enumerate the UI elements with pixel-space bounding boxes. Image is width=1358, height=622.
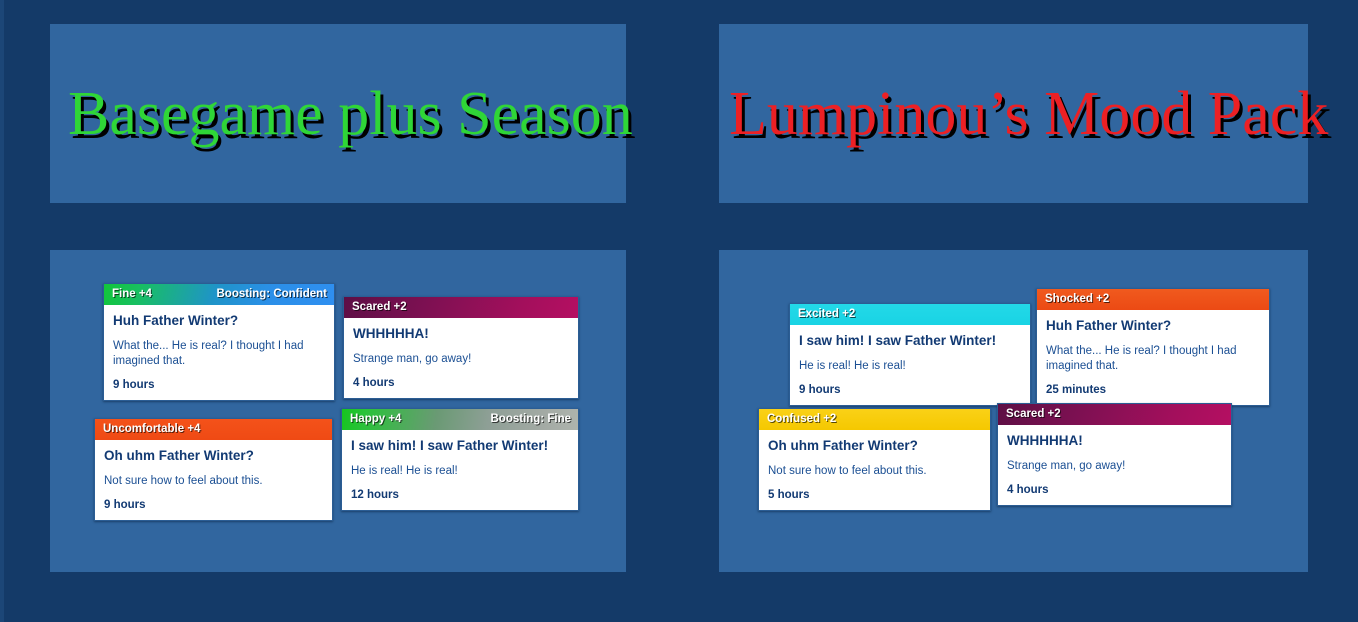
- card-time: 25 minutes: [1046, 384, 1260, 396]
- mood-label: Uncomfortable +4: [103, 422, 200, 436]
- notification-card-uncomfortable[interactable]: Uncomfortable +4 Oh uhm Father Winter? N…: [94, 418, 333, 521]
- right-comparison-title: Lumpinou’s Mood Pack: [719, 83, 1328, 145]
- card-body: WHHHHHA! Strange man, go away! 4 hours: [344, 318, 578, 398]
- card-body: I saw him! I saw Father Winter! He is re…: [790, 325, 1030, 405]
- mood-label: Shocked +2: [1045, 292, 1109, 306]
- left-comparison-title: Basegame plus Season: [50, 83, 633, 145]
- card-text: Strange man, go away!: [353, 352, 569, 367]
- card-header: Scared +2: [344, 297, 578, 318]
- card-text: He is real! He is real!: [799, 359, 1021, 374]
- card-header: Scared +2: [998, 404, 1231, 425]
- card-header: Uncomfortable +4: [95, 419, 332, 440]
- card-text: Strange man, go away!: [1007, 459, 1222, 474]
- notification-card-confused[interactable]: Confused +2 Oh uhm Father Winter? Not su…: [758, 408, 991, 511]
- card-text: What the... He is real? I thought I had …: [1046, 344, 1260, 374]
- notification-card-excited[interactable]: Excited +2 I saw him! I saw Father Winte…: [789, 303, 1031, 406]
- card-title: Oh uhm Father Winter?: [104, 448, 323, 465]
- mood-label: Scared +2: [352, 300, 407, 314]
- notification-card-scared-left[interactable]: Scared +2 WHHHHHA! Strange man, go away!…: [343, 296, 579, 399]
- card-text: He is real! He is real!: [351, 464, 569, 479]
- card-title: WHHHHHA!: [353, 326, 569, 343]
- card-text: Not sure how to feel about this.: [104, 474, 323, 489]
- card-time: 4 hours: [353, 377, 569, 389]
- mood-label: Happy +4: [350, 412, 401, 426]
- card-body: Oh uhm Father Winter? Not sure how to fe…: [759, 430, 990, 510]
- card-body: I saw him! I saw Father Winter! He is re…: [342, 430, 578, 510]
- right-title-panel: Lumpinou’s Mood Pack: [719, 24, 1308, 203]
- card-header: Excited +2: [790, 304, 1030, 325]
- notification-card-fine[interactable]: Fine +4 Boosting: Confident Huh Father W…: [103, 283, 335, 401]
- card-title: I saw him! I saw Father Winter!: [351, 438, 569, 455]
- mood-label: Confused +2: [767, 412, 836, 426]
- left-title-panel: Basegame plus Season: [50, 24, 626, 203]
- card-title: Huh Father Winter?: [113, 313, 325, 330]
- card-title: Oh uhm Father Winter?: [768, 438, 981, 455]
- card-time: 9 hours: [799, 384, 1021, 396]
- card-body: Huh Father Winter? What the... He is rea…: [104, 305, 334, 400]
- card-title: WHHHHHA!: [1007, 433, 1222, 450]
- card-header: Shocked +2: [1037, 289, 1269, 310]
- notification-card-happy[interactable]: Happy +4 Boosting: Fine I saw him! I saw…: [341, 408, 579, 511]
- card-time: 12 hours: [351, 489, 569, 501]
- card-body: WHHHHHA! Strange man, go away! 4 hours: [998, 425, 1231, 505]
- card-time: 9 hours: [113, 379, 325, 391]
- card-body: Oh uhm Father Winter? Not sure how to fe…: [95, 440, 332, 520]
- boosting-label: Boosting: Confident: [216, 287, 327, 301]
- mood-label: Scared +2: [1006, 407, 1061, 421]
- card-header: Fine +4 Boosting: Confident: [104, 284, 334, 305]
- card-title: I saw him! I saw Father Winter!: [799, 333, 1021, 350]
- mood-label: Excited +2: [798, 307, 855, 321]
- card-time: 9 hours: [104, 499, 323, 511]
- notification-card-scared-right[interactable]: Scared +2 WHHHHHA! Strange man, go away!…: [997, 403, 1232, 506]
- notification-card-shocked[interactable]: Shocked +2 Huh Father Winter? What the..…: [1036, 288, 1270, 406]
- mood-label: Fine +4: [112, 287, 152, 301]
- card-body: Huh Father Winter? What the... He is rea…: [1037, 310, 1269, 405]
- boosting-label: Boosting: Fine: [491, 412, 572, 426]
- card-time: 4 hours: [1007, 484, 1222, 496]
- card-title: Huh Father Winter?: [1046, 318, 1260, 335]
- card-time: 5 hours: [768, 489, 981, 501]
- card-header: Happy +4 Boosting: Fine: [342, 409, 578, 430]
- left-edge-strip: [0, 0, 4, 622]
- card-text: What the... He is real? I thought I had …: [113, 339, 325, 369]
- card-header: Confused +2: [759, 409, 990, 430]
- card-text: Not sure how to feel about this.: [768, 464, 981, 479]
